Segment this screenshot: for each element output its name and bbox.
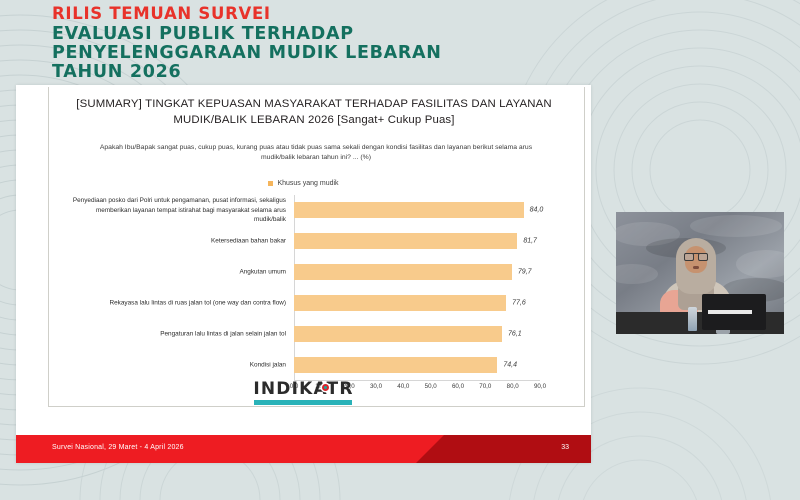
chart-legend: Khusus yang mudik <box>16 180 591 187</box>
laptop-edge <box>708 310 752 314</box>
header-title-red: RILIS TEMUAN SURVEI <box>52 6 800 23</box>
chart-title: [SUMMARY] TINGKAT KEPUASAN MASYARAKAT TE… <box>64 97 564 128</box>
logo-text-tail: R <box>339 379 353 399</box>
presentation-header: RILIS TEMUAN SURVEI EVALUASI PUBLIK TERH… <box>0 0 800 88</box>
bar-value-label: 79,7 <box>518 269 532 276</box>
header-subtitle-line-2: PENYELENGGARAAN MUDIK LEBARAN <box>52 45 800 63</box>
water-bottle <box>688 307 697 331</box>
bar <box>294 233 517 249</box>
glasses-left-lens-icon <box>684 253 694 261</box>
indikator-logo: INDIKATR <box>16 379 591 405</box>
bar <box>294 357 497 373</box>
header-subtitle-line-3: TAHUN 2026 <box>52 64 800 82</box>
glasses-right-lens-icon <box>698 253 708 261</box>
presenter-mouth <box>693 266 699 269</box>
bar-value-label: 74,4 <box>503 361 517 368</box>
header-subtitle-line-1: EVALUASI PUBLIK TERHADAP <box>52 26 800 44</box>
category-label: Ketersediaan bahan bakar <box>64 237 286 246</box>
bar-chart-plot: Penyediaan posko dari Polri untuk pengam… <box>64 195 564 380</box>
bar-value-label: 77,6 <box>512 299 526 306</box>
category-label: Rekayasa lalu lintas di ruas jalan tol (… <box>64 298 286 307</box>
slide-panel: [SUMMARY] TINGKAT KEPUASAN MASYARAKAT TE… <box>16 85 591 463</box>
legend-swatch-icon <box>268 181 273 186</box>
category-label: Pengaturan lalu lintas di jalan selain j… <box>64 329 286 338</box>
bar-value-label: 84,0 <box>530 207 544 214</box>
slide-footer-text: Survei Nasional, 29 Maret - 4 April 2026 <box>52 444 184 451</box>
legend-label: Khusus yang mudik <box>277 180 338 187</box>
category-label: Kondisi jalan <box>64 360 286 369</box>
bar-value-label: 76,1 <box>508 330 522 337</box>
y-axis-line <box>294 195 295 380</box>
chart-subtitle-question: Apakah Ibu/Bapak sangat puas, cukup puas… <box>96 143 536 163</box>
bar-value-label: 81,7 <box>523 238 537 245</box>
indikator-logo-text: INDIKATR <box>253 379 353 405</box>
bar <box>294 264 512 280</box>
category-label: Angkutan umum <box>64 267 286 276</box>
bar <box>294 326 502 342</box>
presenter-head <box>676 238 716 286</box>
bar <box>294 202 524 218</box>
slide-footer-bar: Survei Nasional, 29 Maret - 4 April 2026… <box>16 435 591 463</box>
presenter-video-tile[interactable] <box>616 212 784 334</box>
logo-underline <box>254 400 352 405</box>
bar <box>294 295 506 311</box>
slide-page-number: 33 <box>561 444 569 451</box>
category-label: Penyediaan posko dari Polri untuk pengam… <box>64 196 286 224</box>
